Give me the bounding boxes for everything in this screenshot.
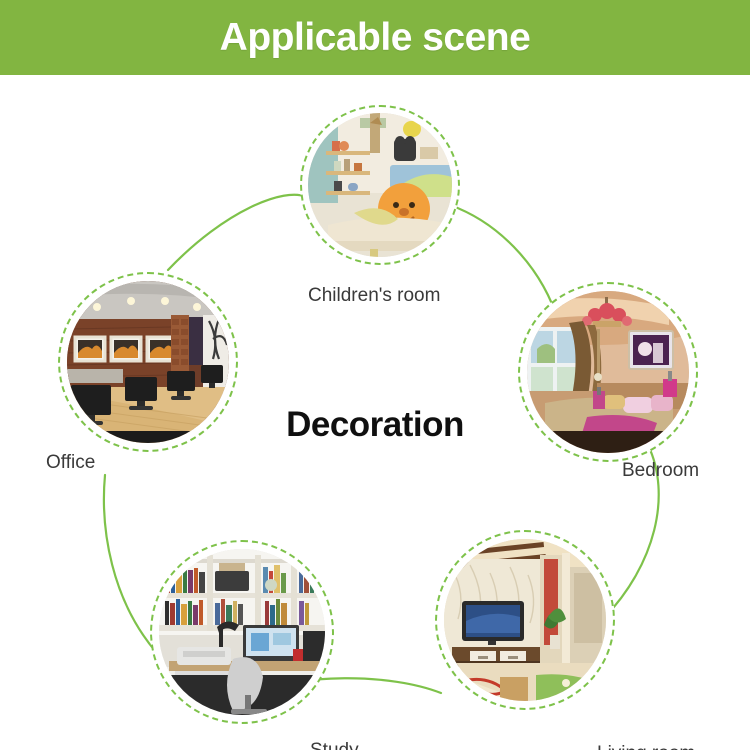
applicable-scene-graphic: Applicable scene Decoration bbox=[0, 0, 750, 750]
study-photo bbox=[159, 549, 325, 715]
node-childrens-room[interactable]: Children's room bbox=[300, 105, 460, 265]
diagram-stage: Decoration bbox=[0, 75, 750, 750]
living-room-photo bbox=[444, 539, 606, 701]
page-title: Applicable scene bbox=[220, 16, 531, 60]
childrens-room-photo bbox=[308, 113, 452, 257]
bedroom-photo bbox=[527, 291, 689, 453]
node-study[interactable]: Study bbox=[150, 540, 334, 724]
node-label-childrens-room: Children's room bbox=[308, 285, 440, 307]
header-bar: Applicable scene bbox=[0, 0, 750, 75]
node-label-living-room: Living room bbox=[597, 743, 695, 750]
arc-study-office bbox=[104, 475, 156, 652]
node-bedroom[interactable]: Bedroom bbox=[518, 282, 698, 462]
node-label-bedroom: Bedroom bbox=[622, 460, 699, 482]
arc-office-children bbox=[168, 195, 306, 270]
node-office[interactable]: Office bbox=[58, 272, 238, 452]
node-living-room[interactable]: Living room bbox=[435, 530, 615, 710]
node-label-study: Study bbox=[310, 740, 359, 750]
office-photo bbox=[67, 281, 229, 443]
node-label-office: Office bbox=[46, 452, 95, 474]
